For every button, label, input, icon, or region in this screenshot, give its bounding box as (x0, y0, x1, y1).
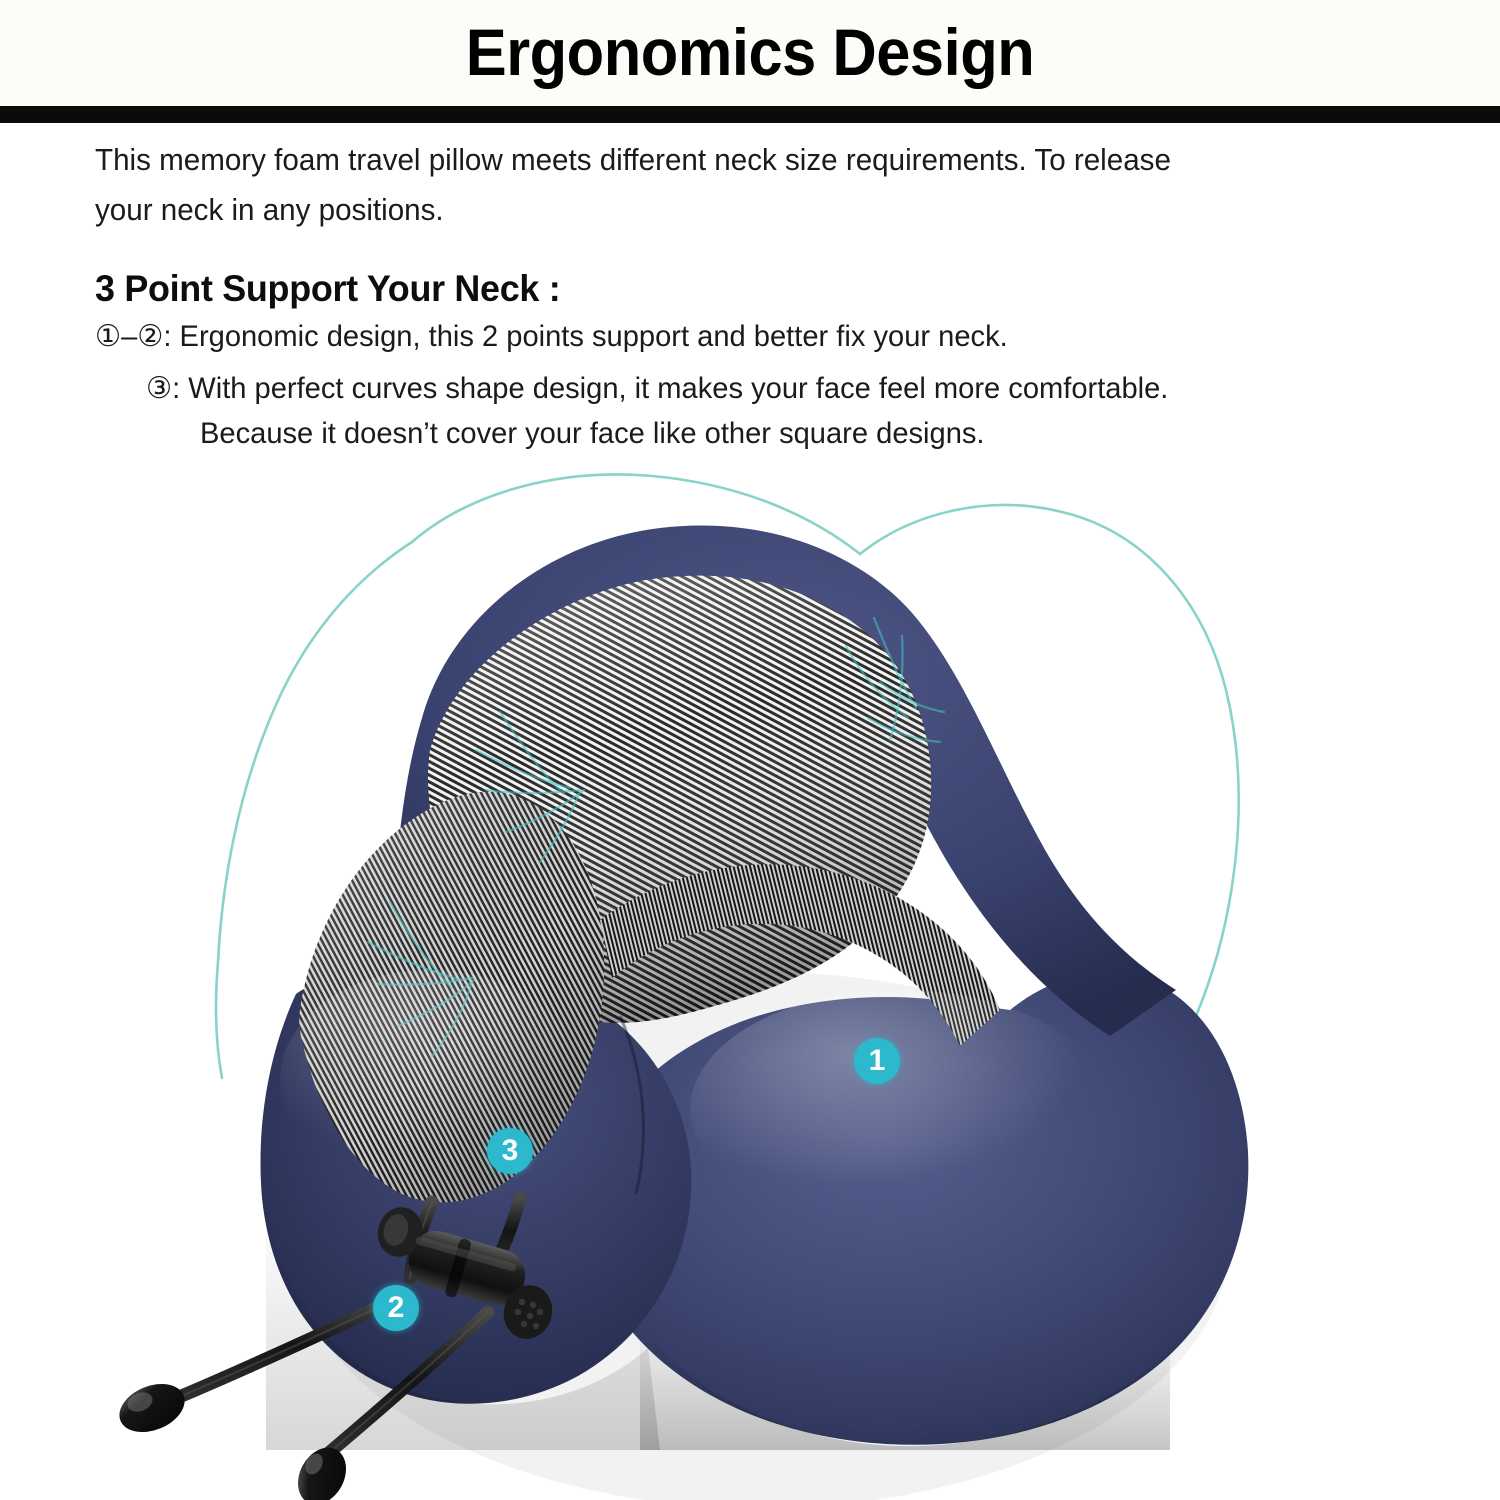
support-point-badge-1: 1 (854, 1038, 900, 1084)
highlight-left (280, 970, 580, 1190)
intro-paragraph-line-1: This memory foam travel pillow meets dif… (95, 143, 1171, 178)
support-point-line-1: ①–②: Ergonomic design, this 2 points sup… (95, 319, 1008, 354)
travel-pillow-illustration (0, 450, 1500, 1500)
title-divider (0, 106, 1500, 123)
highlight-right (690, 990, 1110, 1230)
infographic-page: Ergonomics Design This memory foam trave… (0, 0, 1500, 1500)
support-point-line-3: Because it doesn’t cover your face like … (200, 417, 985, 451)
product-image: 1 2 3 (0, 450, 1500, 1500)
section-heading: 3 Point Support Your Neck : (95, 268, 560, 310)
intro-paragraph-line-2: your neck in any positions. (95, 193, 444, 228)
support-point-badge-2: 2 (373, 1285, 419, 1331)
support-point-line-2: ③: With perfect curves shape design, it … (146, 371, 1168, 406)
page-title: Ergonomics Design (53, 8, 1448, 96)
copy-block: This memory foam travel pillow meets dif… (0, 123, 1500, 453)
support-point-badge-3: 3 (487, 1128, 533, 1174)
